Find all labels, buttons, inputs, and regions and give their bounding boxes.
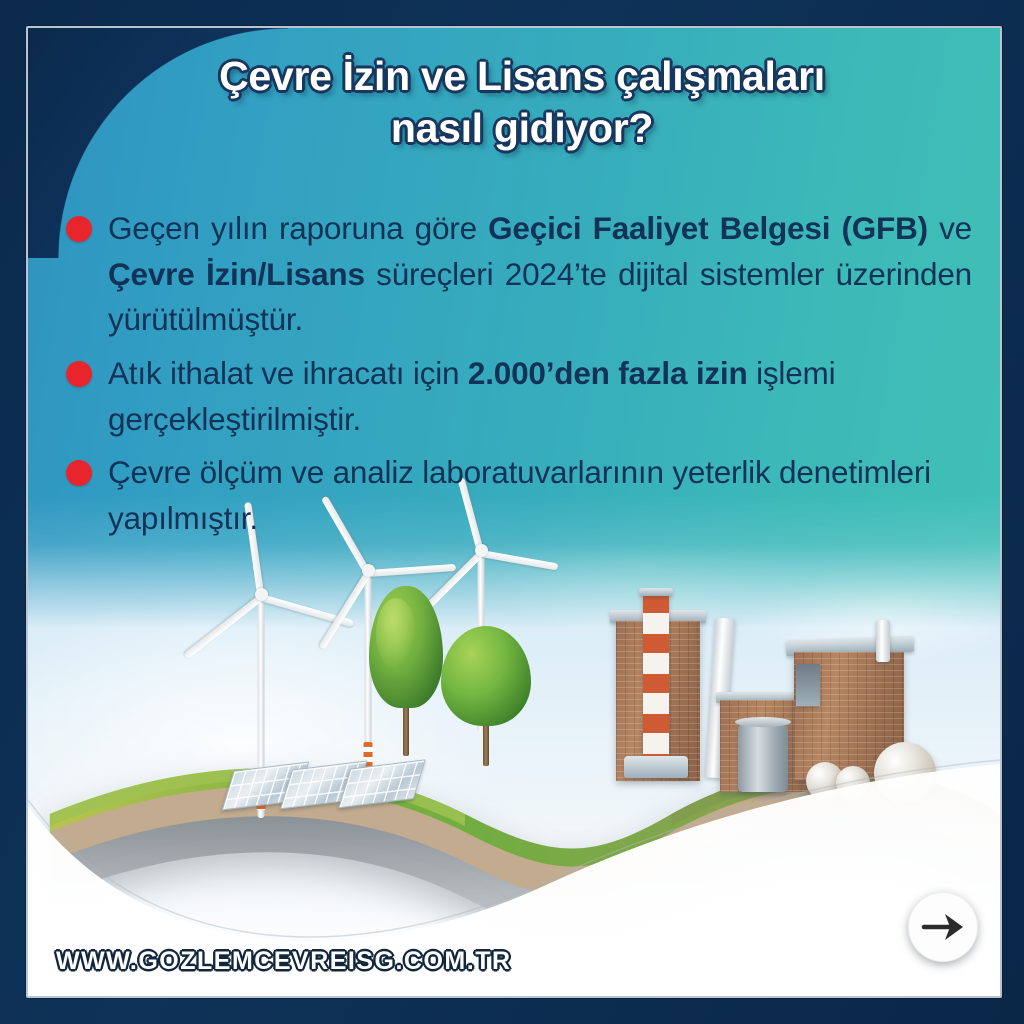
bullet-dot-icon (66, 216, 92, 242)
poster-canvas: WWW.GOZLEMCEVREISG.COM.TR Çevre İzin ve … (0, 0, 1024, 1024)
turbine-hub (362, 564, 375, 577)
page-title: Çevre İzin ve Lisans çalışmaları nasıl g… (68, 50, 976, 155)
list-item: Çevre ölçüm ve analiz laboratuvarlarının… (62, 450, 972, 541)
bullet-dot-icon (66, 460, 92, 486)
white-chimney (876, 620, 890, 662)
next-slide-button[interactable] (908, 892, 978, 962)
bullet-text: Atık ithalat ve ihracatı için 2.000’den … (108, 351, 972, 442)
turbine-hub (255, 588, 268, 601)
title-line-1: Çevre İzin ve Lisans çalışmaları (68, 50, 976, 102)
tree-crown (441, 626, 531, 726)
arrow-right-icon (921, 912, 965, 942)
factory-window (796, 664, 820, 706)
turbine-blade (183, 595, 263, 660)
chimney-cap (639, 588, 673, 596)
tree-crown-highlight (376, 598, 416, 670)
bullet-dot-icon (66, 361, 92, 387)
bullet-text: Çevre ölçüm ve analiz laboratuvarlarının… (108, 450, 972, 541)
bullet-list: Geçen yılın raporuna göre Geçici Faaliye… (62, 206, 972, 550)
turbine-blade (480, 550, 558, 570)
title-line-2: nasıl gidiyor? (68, 102, 976, 154)
tree (363, 586, 449, 756)
list-item: Atık ithalat ve ihracatı için 2.000’den … (62, 351, 972, 442)
website-url: WWW.GOZLEMCEVREISG.COM.TR (56, 947, 512, 976)
list-item: Geçen yılın raporuna göre Geçici Faaliye… (62, 206, 972, 343)
bullet-text: Geçen yılın raporuna göre Geçici Faaliye… (108, 206, 972, 343)
poster-card: WWW.GOZLEMCEVREISG.COM.TR Çevre İzin ve … (28, 28, 1000, 996)
